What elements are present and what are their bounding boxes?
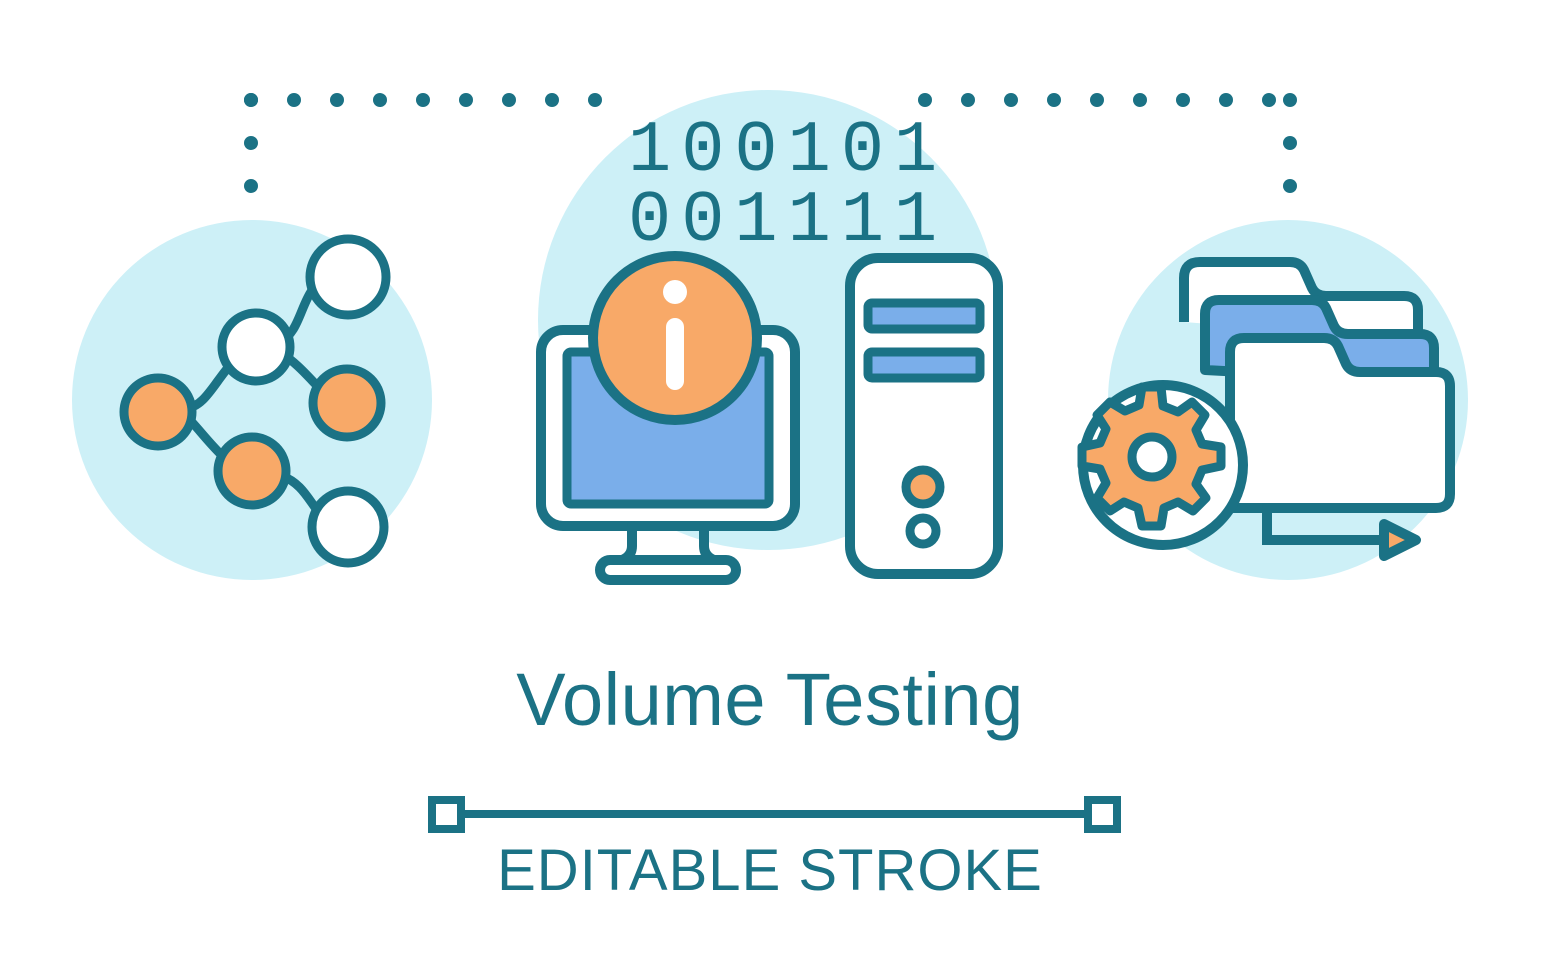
- info-icon: [593, 256, 757, 420]
- node-orange-right: [313, 369, 381, 437]
- node-white-upper: [222, 313, 290, 381]
- node-white-bottom: [312, 491, 384, 563]
- computer-tower-icon: [850, 258, 998, 574]
- binary-line-2: 001111: [628, 180, 947, 262]
- tower-led-white: [910, 518, 936, 544]
- node-graph-icon: [72, 220, 432, 580]
- node-orange-left: [124, 378, 192, 446]
- node-orange-lower: [218, 437, 286, 505]
- gear-icon: [1082, 385, 1243, 545]
- tower-led-orange: [906, 470, 940, 504]
- concept-illustration: 100101 001111: [0, 0, 1541, 980]
- page-title: Volume Testing: [516, 658, 1024, 741]
- node-white-top: [310, 239, 386, 315]
- stroke-handle-left: [432, 800, 461, 829]
- stroke-handle-right: [1088, 800, 1117, 829]
- editable-stroke-label: EDITABLE STROKE: [497, 838, 1043, 903]
